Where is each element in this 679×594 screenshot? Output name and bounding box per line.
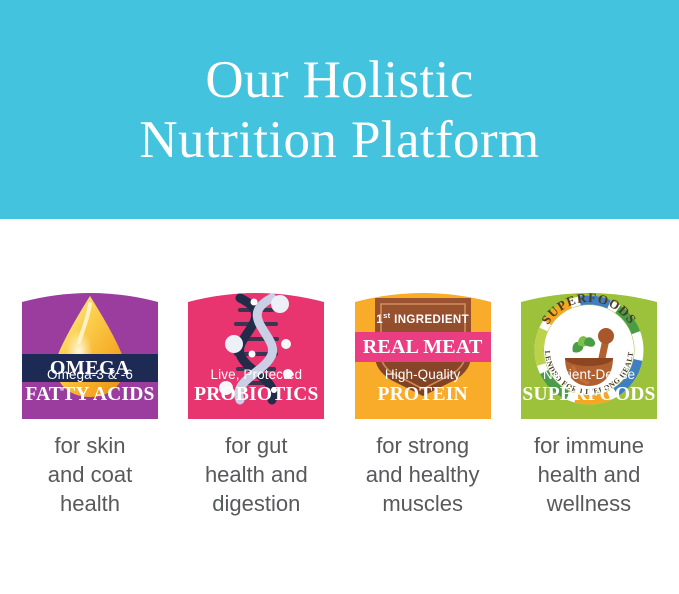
badge-subtitle: High-Quality bbox=[355, 368, 491, 382]
caption-superfoods: for immune health and wellness bbox=[513, 431, 665, 518]
caption-protein: for strong and healthy muscles bbox=[347, 431, 499, 518]
first-ingredient-label: 1st INGREDIENT bbox=[355, 311, 491, 326]
badge-subtitle: Live, Protected bbox=[188, 368, 324, 382]
caption-row: for skin and coat health for gut health … bbox=[0, 419, 679, 518]
badge-title: FATTY ACIDS bbox=[22, 385, 158, 405]
badge-probiotics[interactable]: Live, Protected PROBIOTICS bbox=[188, 284, 324, 419]
page-title: Our Holistic Nutrition Platform bbox=[119, 50, 559, 170]
caption-probiotics: for gut health and digestion bbox=[180, 431, 332, 518]
real-meat-ribbon: REAL MEAT bbox=[355, 332, 491, 362]
badge-text-omega: Omega-3 & -6 FATTY ACIDS bbox=[22, 368, 158, 405]
badge-title: PROTEIN bbox=[355, 385, 491, 405]
badge-protein[interactable]: 1st INGREDIENT REAL MEAT High-Quality PR… bbox=[355, 284, 491, 419]
badge-text-superfoods: Nutrient-Dense SUPERFOODS bbox=[521, 368, 657, 405]
caption-omega: for skin and coat health bbox=[14, 431, 166, 518]
real-meat-label: REAL MEAT bbox=[363, 336, 483, 359]
badge-subtitle: Nutrient-Dense bbox=[521, 368, 657, 382]
badge-column-protein: 1st INGREDIENT REAL MEAT High-Quality PR… bbox=[355, 284, 491, 419]
badge-subtitle: Omega-3 & -6 bbox=[22, 368, 158, 382]
badge-title: PROBIOTICS bbox=[188, 385, 324, 405]
badge-column-probiotics: Live, Protected PROBIOTICS bbox=[188, 284, 324, 419]
badge-omega[interactable]: OMEGA Omega-3 & -6 FATTY ACIDS bbox=[22, 284, 158, 419]
benefit-badge-row: OMEGA Omega-3 & -6 FATTY ACIDS bbox=[0, 219, 679, 419]
badge-column-superfoods: SUPERFOODS BLENDED FOR LIFELONG HEALTH bbox=[521, 284, 657, 419]
badge-title: SUPERFOODS bbox=[521, 385, 657, 405]
badge-column-omega: OMEGA Omega-3 & -6 FATTY ACIDS bbox=[22, 284, 158, 419]
badge-text-probiotics: Live, Protected PROBIOTICS bbox=[188, 368, 324, 405]
badge-text-protein: High-Quality PROTEIN bbox=[355, 368, 491, 405]
hero-banner: Our Holistic Nutrition Platform bbox=[0, 0, 679, 219]
badge-superfoods[interactable]: SUPERFOODS BLENDED FOR LIFELONG HEALTH bbox=[521, 284, 657, 419]
